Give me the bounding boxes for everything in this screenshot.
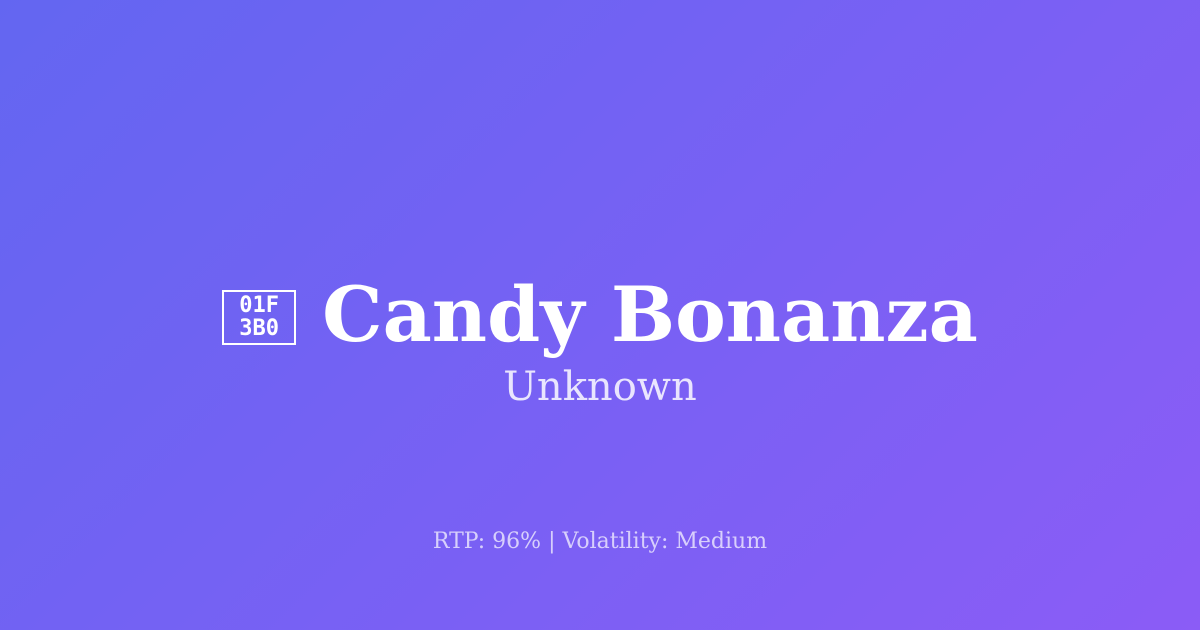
- slot-machine-icon-codepoint-high: 01F: [239, 294, 279, 317]
- game-preview-card: 01F 3B0 Candy Bonanza Unknown RTP: 96% |…: [0, 0, 1200, 630]
- slot-machine-icon-codepoint-low: 3B0: [239, 317, 279, 340]
- game-stats: RTP: 96% | Volatility: Medium: [0, 527, 1200, 557]
- game-provider: Unknown: [0, 362, 1200, 412]
- slot-machine-icon: 01F 3B0: [222, 290, 296, 345]
- game-title: Candy Bonanza: [322, 275, 978, 355]
